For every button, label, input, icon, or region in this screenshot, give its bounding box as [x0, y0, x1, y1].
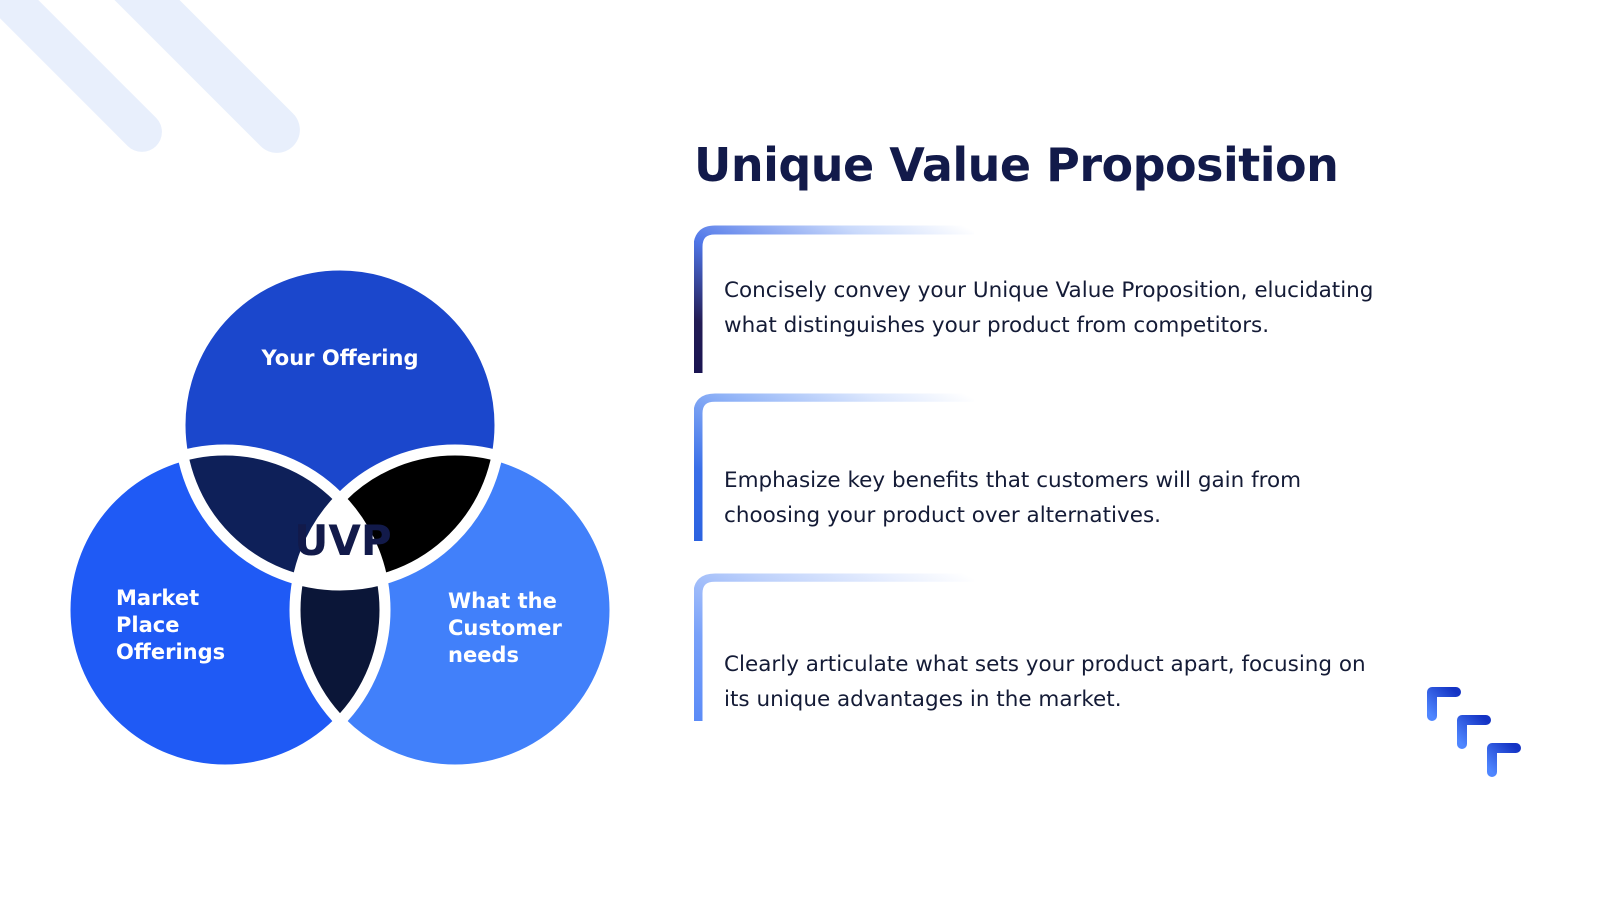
- point-list: Concisely convey your Unique Value Propo…: [694, 225, 1534, 733]
- diagonal-bar-large: [51, 0, 310, 162]
- corner-mark-3: [1492, 748, 1516, 772]
- venn-diagram: Your Offering Market Place Offerings Wha…: [60, 240, 620, 800]
- point-text-1: Concisely convey your Unique Value Propo…: [724, 265, 1384, 344]
- diagonal-bar-small: [0, 0, 170, 160]
- content-panel: Unique Value Proposition Concisely conve…: [694, 140, 1534, 733]
- point-item-3: Clearly articulate what sets your produc…: [694, 573, 1534, 733]
- venn-label-your-offering: Your Offering: [261, 346, 419, 370]
- point-item-2: Emphasize key benefits that customers wi…: [694, 393, 1534, 553]
- page-title: Unique Value Proposition: [694, 140, 1534, 191]
- venn-center-label: UVP: [294, 516, 391, 565]
- point-text-2: Emphasize key benefits that customers wi…: [724, 433, 1384, 534]
- point-item-1: Concisely convey your Unique Value Propo…: [694, 225, 1534, 373]
- point-text-3: Clearly articulate what sets your produc…: [724, 613, 1384, 718]
- decorative-diagonal-bars: [0, 0, 280, 220]
